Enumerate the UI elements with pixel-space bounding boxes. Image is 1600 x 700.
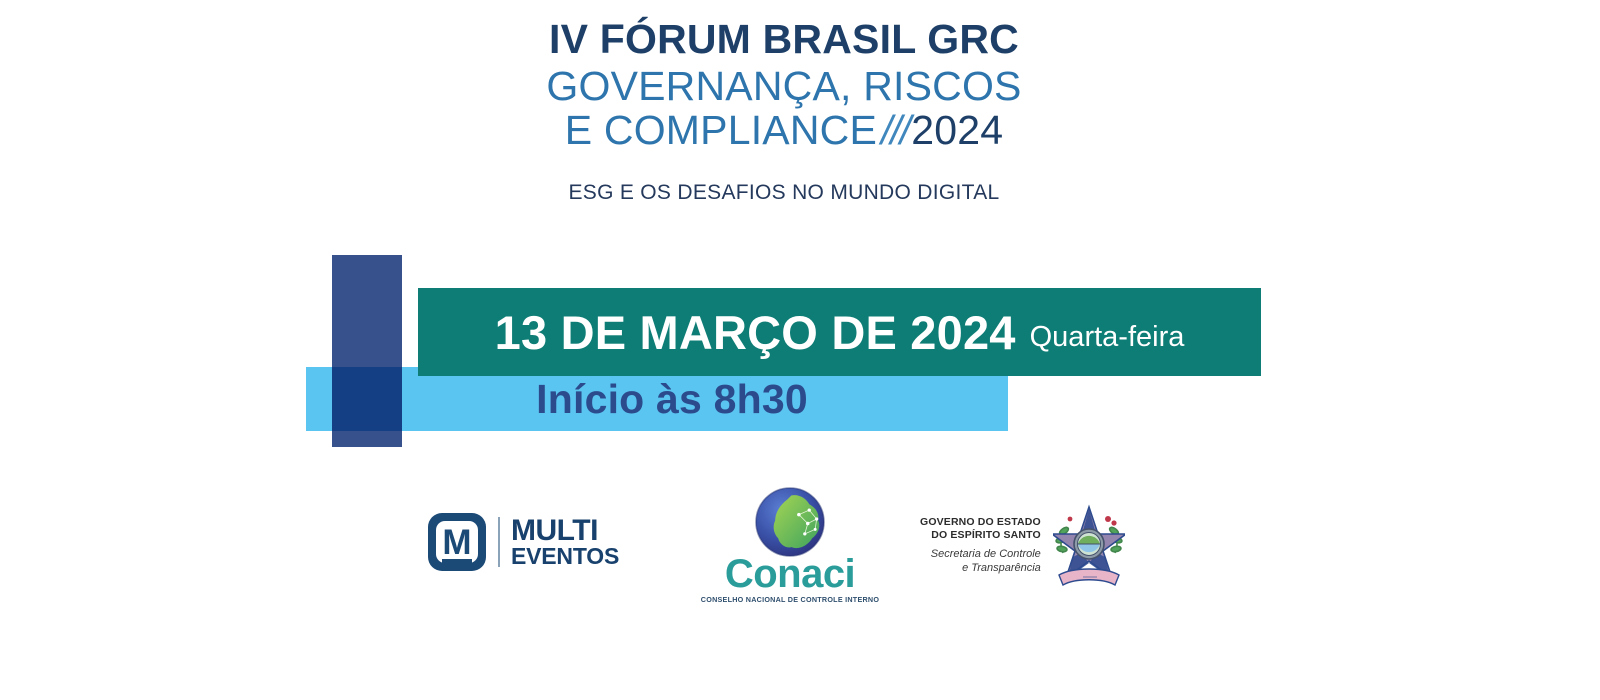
- governo-secretaria-line1: Secretaria de Controle: [920, 548, 1041, 562]
- multi-eventos-m-icon: M: [428, 513, 486, 571]
- event-title-line1: IV FÓRUM BRASIL GRC: [0, 14, 1568, 64]
- event-weekday: Quarta-feira: [1030, 321, 1185, 354]
- logo-conaci: Conaci CONSELHO NACIONAL DE CONTROLE INT…: [700, 485, 880, 604]
- event-title-block: IV FÓRUM BRASIL GRC GOVERNANÇA, RISCOS E…: [0, 14, 1568, 153]
- event-title-line2: GOVERNANÇA, RISCOS: [0, 64, 1568, 109]
- multi-eventos-name-top: MULTI: [511, 516, 619, 545]
- event-title-line3-prefix: E COMPLIANCE: [565, 107, 877, 153]
- event-title-line3: E COMPLIANCE///2024: [0, 108, 1568, 153]
- multi-eventos-divider: [498, 517, 500, 567]
- title-slashes-decoration: ///: [877, 107, 911, 153]
- governo-line1: GOVERNO DO ESTADO: [920, 516, 1041, 529]
- governo-secretaria-line2: e Transparência: [920, 562, 1041, 576]
- governo-line2: DO ESPÍRITO SANTO: [920, 529, 1041, 542]
- multi-eventos-wordmark: MULTI EVENTOS: [511, 516, 619, 567]
- multi-eventos-notch: [442, 559, 472, 571]
- sponsor-logo-row: M MULTI EVENTOS: [410, 485, 1170, 620]
- logo-governo-espirito-santo: GOVERNO DO ESTADO DO ESPÍRITO SANTO Secr…: [920, 497, 1125, 591]
- espirito-santo-coat-of-arms-icon: [1053, 497, 1125, 591]
- logo-multi-eventos: M MULTI EVENTOS: [428, 513, 619, 571]
- event-date-row: 13 DE MARÇO DE 2024 Quarta-feira: [418, 288, 1261, 376]
- event-start-time: Início às 8h30: [506, 376, 808, 423]
- event-date: 13 DE MARÇO DE 2024: [495, 305, 1016, 360]
- governo-text-block: GOVERNO DO ESTADO DO ESPÍRITO SANTO Secr…: [920, 512, 1041, 575]
- event-subtitle: ESG E OS DESAFIOS NO MUNDO DIGITAL: [0, 181, 1568, 205]
- conaci-tagline: CONSELHO NACIONAL DE CONTROLE INTERNO: [700, 595, 880, 604]
- multi-eventos-name-bottom: EVENTOS: [511, 545, 619, 567]
- conaci-globe-icon: [753, 485, 827, 559]
- conaci-wordmark: Conaci: [700, 555, 880, 593]
- event-year: 2024: [911, 107, 1003, 153]
- event-time-row: Início às 8h30: [306, 367, 1008, 431]
